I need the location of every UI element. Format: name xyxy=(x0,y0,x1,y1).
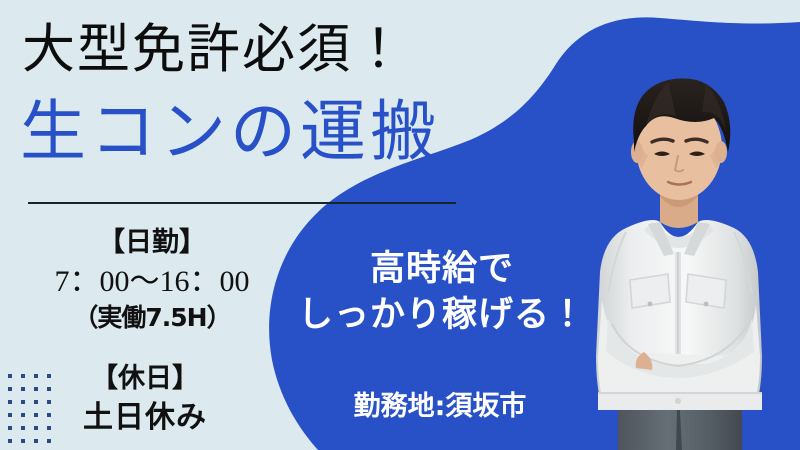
holiday-info-block: 【休日】 土日休み xyxy=(30,362,260,437)
holiday-label: 【休日】 xyxy=(30,362,260,396)
callout-block: 高時給で しっかり稼げる！ xyxy=(292,248,592,336)
callout-line-2: しっかり稼げる！ xyxy=(292,294,592,336)
callout-line-1: 高時給で xyxy=(292,248,592,290)
shift-info-block: 【日勤】 7：00〜16：00 （実働7.5H） xyxy=(14,226,290,334)
shift-hours: 7：00〜16：00 xyxy=(14,262,290,301)
shift-actual-hours: （実働7.5H） xyxy=(14,302,290,335)
job-advert-banner: 大型免許必須！ 生コンの運搬 【日勤】 7：00〜16：00 （実働7.5H） … xyxy=(0,0,800,450)
work-location: 勤務地:須坂市 xyxy=(300,384,580,423)
horizontal-rule xyxy=(28,202,456,204)
headline-primary: 大型免許必須！ xyxy=(22,22,582,78)
holiday-value: 土日休み xyxy=(30,398,260,437)
shift-label: 【日勤】 xyxy=(14,226,290,260)
headline-secondary: 生コンの運搬 xyxy=(20,96,600,169)
